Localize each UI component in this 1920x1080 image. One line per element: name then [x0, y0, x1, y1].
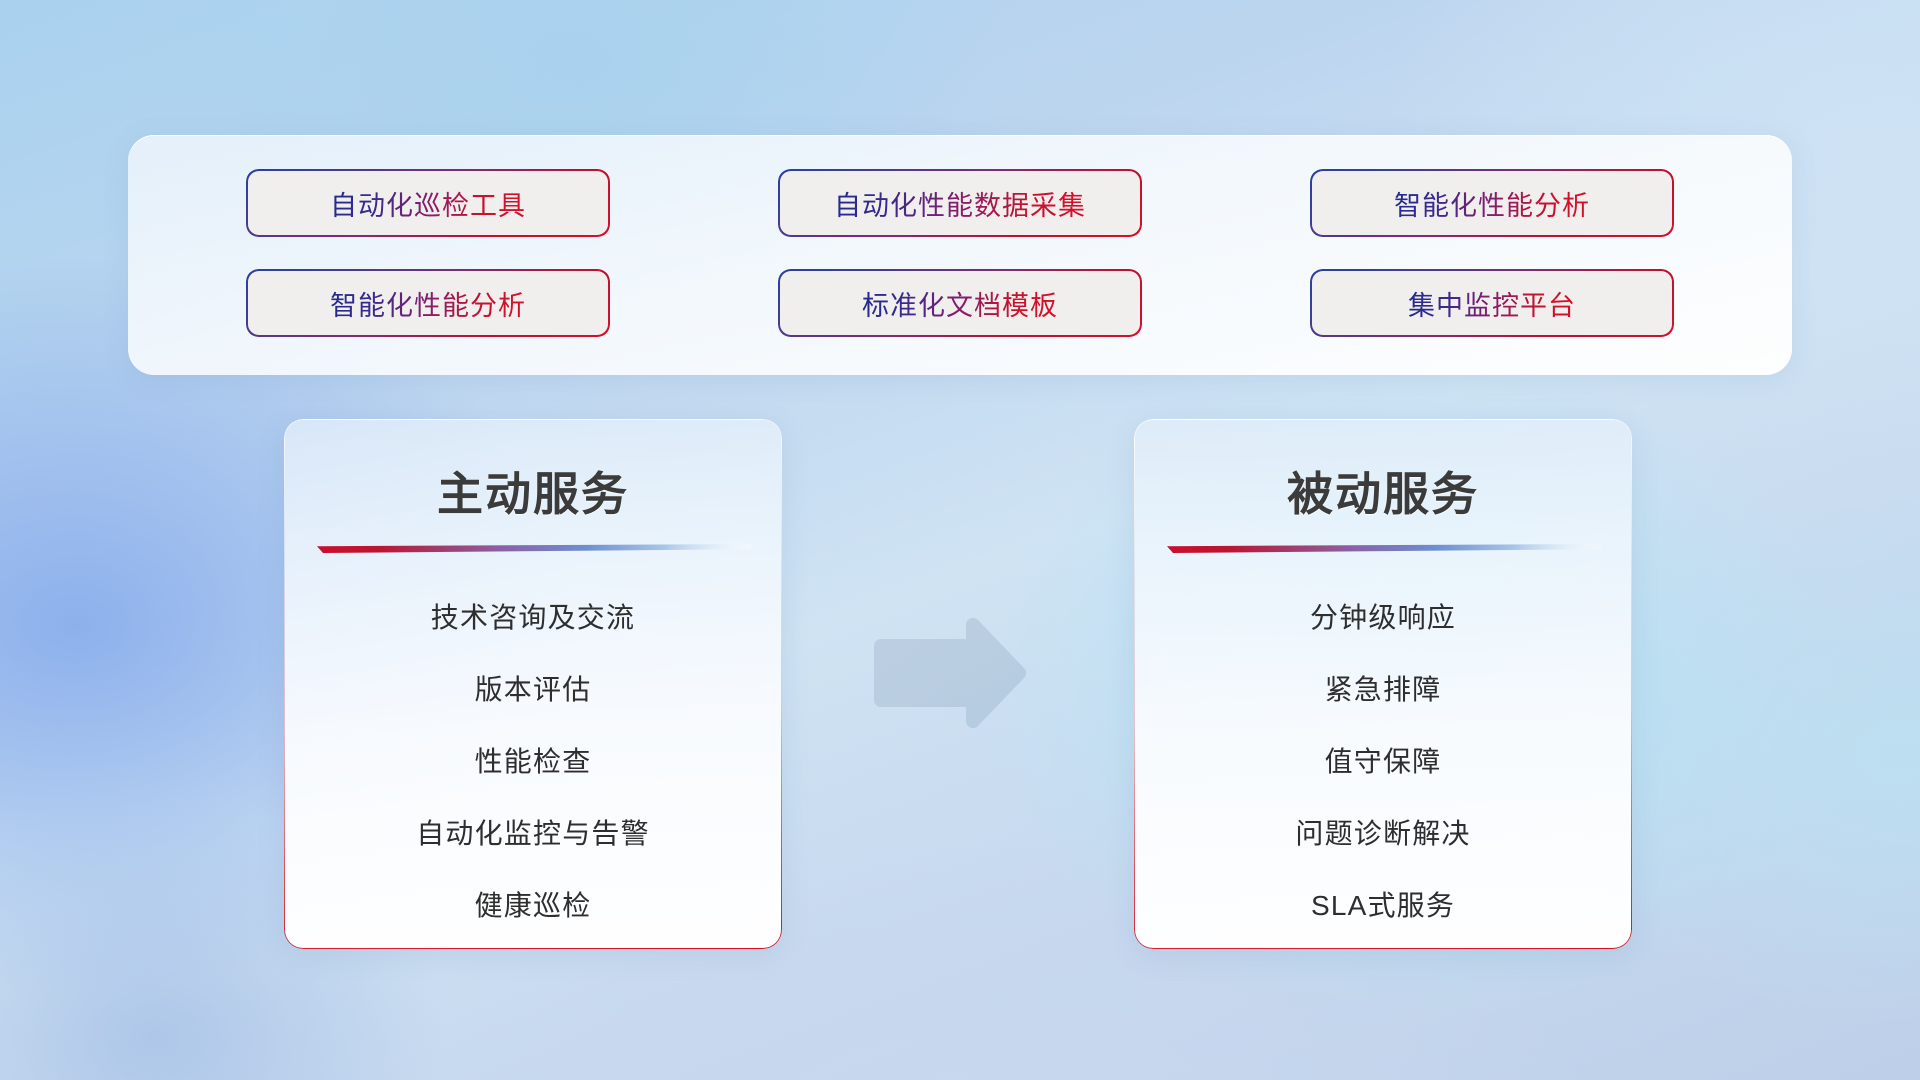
- service-item-minute-level-response[interactable]: 分钟级响应: [1310, 582, 1456, 654]
- service-card-title: 主动服务: [285, 458, 781, 524]
- service-item-technical-consulting[interactable]: 技术咨询及交流: [431, 582, 635, 654]
- service-item-sla-service[interactable]: SLA式服务: [1311, 870, 1455, 942]
- service-card-item-list: 分钟级响应 紧急排障 值守保障 问题诊断解决 SLA式服务: [1135, 582, 1631, 942]
- capability-pill-automated-performance-data-collection[interactable]: 自动化性能数据采集: [780, 171, 1140, 235]
- capability-pill-automated-inspection-tool[interactable]: 自动化巡检工具: [248, 171, 608, 235]
- capability-pill-centralized-monitoring-platform[interactable]: 集中监控平台: [1312, 271, 1672, 335]
- capability-pill-intelligent-performance-analysis-top[interactable]: 智能化性能分析: [1312, 171, 1672, 235]
- capability-pill-label: 集中监控平台: [1408, 284, 1576, 323]
- capability-pill-intelligent-performance-analysis-bottom[interactable]: 智能化性能分析: [248, 271, 608, 335]
- capability-pill-label: 自动化巡检工具: [330, 184, 526, 223]
- arrow-right-icon: [868, 615, 1030, 733]
- service-item-emergency-troubleshooting[interactable]: 紧急排障: [1325, 654, 1442, 726]
- service-card-passive: 被动服务 分钟级响应 紧急排障 值守保障 问题诊断解决 SLA式服务: [1135, 420, 1631, 948]
- capability-pill-label: 智能化性能分析: [1394, 184, 1590, 223]
- service-item-on-duty-support[interactable]: 值守保障: [1325, 726, 1442, 798]
- title-divider-icon: [1167, 544, 1601, 553]
- service-item-performance-check[interactable]: 性能检查: [475, 726, 592, 798]
- service-item-health-inspection[interactable]: 健康巡检: [475, 870, 592, 942]
- service-item-version-assessment[interactable]: 版本评估: [475, 654, 592, 726]
- capability-pill-grid: 自动化巡检工具 自动化性能数据采集 智能化性能分析 智能化性能分析 标准化文档模…: [128, 135, 1792, 375]
- capability-pill-label: 智能化性能分析: [330, 284, 526, 323]
- capability-pill-label: 标准化文档模板: [862, 284, 1058, 323]
- title-divider-icon: [317, 544, 751, 553]
- service-item-automated-monitoring-alerting[interactable]: 自动化监控与告警: [416, 798, 650, 870]
- capability-pill-standardized-document-template[interactable]: 标准化文档模板: [780, 271, 1140, 335]
- service-card-item-list: 技术咨询及交流 版本评估 性能检查 自动化监控与告警 健康巡检: [285, 582, 781, 942]
- service-item-problem-diagnosis-resolution[interactable]: 问题诊断解决: [1295, 798, 1470, 870]
- service-card-active: 主动服务 技术咨询及交流 版本评估 性能检查 自动化监控与告警 健康巡检: [285, 420, 781, 948]
- service-card-title: 被动服务: [1135, 458, 1631, 524]
- capability-pill-label: 自动化性能数据采集: [834, 184, 1086, 223]
- capability-tags-panel: 自动化巡检工具 自动化性能数据采集 智能化性能分析 智能化性能分析 标准化文档模…: [128, 135, 1792, 375]
